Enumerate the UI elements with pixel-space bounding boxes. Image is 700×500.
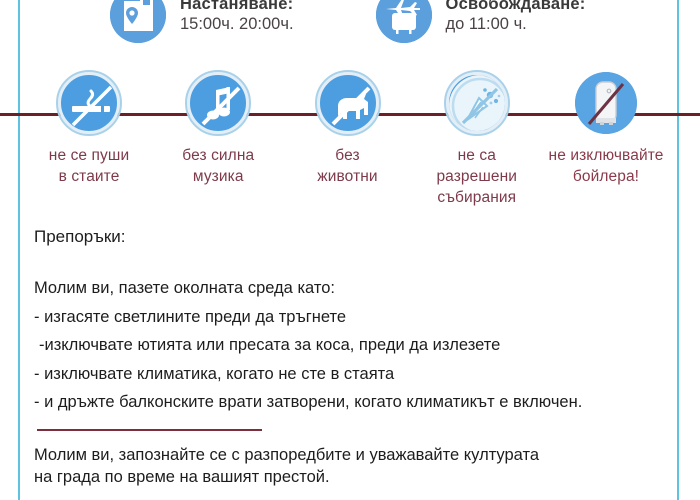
house-rules-row: не се пушив стаите без силнамузика xyxy=(18,72,677,209)
check-out-item: Освобождаване: до 11:00 ч. xyxy=(376,0,586,43)
check-in-item: Настаняване: 15:00ч. 20:00ч. xyxy=(110,0,294,43)
rule-no-pets: безживотни xyxy=(285,72,411,209)
rule-boiler: не изключвайтебойлера! xyxy=(543,72,669,209)
rule-no-parties-label: не саразрешенисъбирания xyxy=(436,146,517,209)
check-out-texts: Освобождаване: до 11:00 ч. xyxy=(446,0,586,35)
hotel-location-pin-icon xyxy=(110,0,166,43)
bullet-lights: - изгасяте светлините преди да тръгнете xyxy=(34,309,674,326)
bullet-balcony: - и дръжте балконските врати затворени, … xyxy=(34,394,674,411)
check-in-time: 15:00ч. 20:00ч. xyxy=(180,14,294,35)
frame-line-right xyxy=(677,0,679,500)
check-out-time: до 11:00 ч. xyxy=(446,14,586,35)
rule-no-loud-music-label: без силнамузика xyxy=(182,146,254,188)
no-smoking-icon xyxy=(58,72,120,134)
recommendations-lead: Молим ви, пазете околната среда като: xyxy=(34,280,674,297)
rule-no-smoking-label: не се пушив стаите xyxy=(49,146,129,188)
luggage-airplane-icon xyxy=(376,0,432,43)
rule-no-smoking: не се пушив стаите xyxy=(26,72,152,209)
no-loud-music-icon xyxy=(187,72,249,134)
check-in-title: Настаняване: xyxy=(180,0,294,14)
section-divider xyxy=(37,429,262,431)
rule-no-loud-music: без силнамузика xyxy=(155,72,281,209)
closing-line-2: на града по време на вашият престой. xyxy=(34,469,674,486)
no-pets-icon xyxy=(317,72,379,134)
check-in-texts: Настаняване: 15:00ч. 20:00ч. xyxy=(180,0,294,35)
rule-no-pets-label: безживотни xyxy=(317,146,377,188)
rule-boiler-label: не изключвайтебойлера! xyxy=(549,146,664,188)
closing-block: Молим ви, запознайте се с разпоредбите и… xyxy=(34,447,674,486)
bullet-iron: -изключвате ютията или пресата за коса, … xyxy=(34,337,674,354)
recommendations-heading: Препоръки: xyxy=(34,228,674,246)
do-not-turn-off-boiler-icon xyxy=(575,72,637,134)
bullet-aircon: - изключвате климатика, когато не сте в … xyxy=(34,366,674,383)
check-in-out-row: Настаняване: 15:00ч. 20:00ч. Освобождава… xyxy=(18,0,677,48)
recommendations-block: Препоръки: Молим ви, пазете околната сре… xyxy=(34,228,674,490)
poster-root: Настаняване: 15:00ч. 20:00ч. Освобождава… xyxy=(0,0,700,500)
no-parties-icon xyxy=(446,72,508,134)
recommendations-bullets: - изгасяте светлините преди да тръгнете … xyxy=(34,309,674,411)
check-out-title: Освобождаване: xyxy=(446,0,586,14)
rule-no-parties: не саразрешенисъбирания xyxy=(414,72,540,209)
closing-line-1: Молим ви, запознайте се с разпоредбите и… xyxy=(34,447,674,464)
